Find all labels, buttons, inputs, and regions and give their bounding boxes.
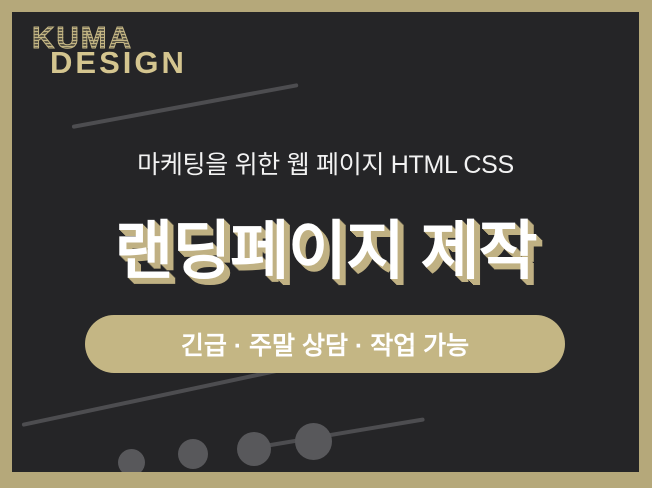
cta-pill-label: 긴급 · 주말 상담 · 작업 가능 bbox=[181, 326, 469, 362]
promo-banner: KUMA DESIGN 마케팅을 위한 웹 페이지 HTML CSS 랜딩페이지… bbox=[0, 0, 652, 488]
diagonal-line-bottom-right-lower-icon bbox=[247, 417, 425, 451]
brand-logo: KUMA DESIGN bbox=[32, 22, 187, 78]
dot-4-icon bbox=[295, 423, 332, 460]
headline-text: 랜딩페이지 제작 bbox=[12, 200, 639, 292]
dot-1-icon bbox=[118, 449, 145, 472]
dot-2-icon bbox=[178, 439, 208, 469]
dot-3-icon bbox=[237, 432, 271, 466]
brand-logo-line-design: DESIGN bbox=[50, 47, 187, 78]
cta-pill-button[interactable]: 긴급 · 주말 상담 · 작업 가능 bbox=[85, 315, 565, 373]
subtitle-text: 마케팅을 위한 웹 페이지 HTML CSS bbox=[12, 145, 639, 181]
diagonal-line-top-right-icon bbox=[72, 83, 299, 129]
banner-content-area: KUMA DESIGN 마케팅을 위한 웹 페이지 HTML CSS 랜딩페이지… bbox=[12, 12, 639, 472]
